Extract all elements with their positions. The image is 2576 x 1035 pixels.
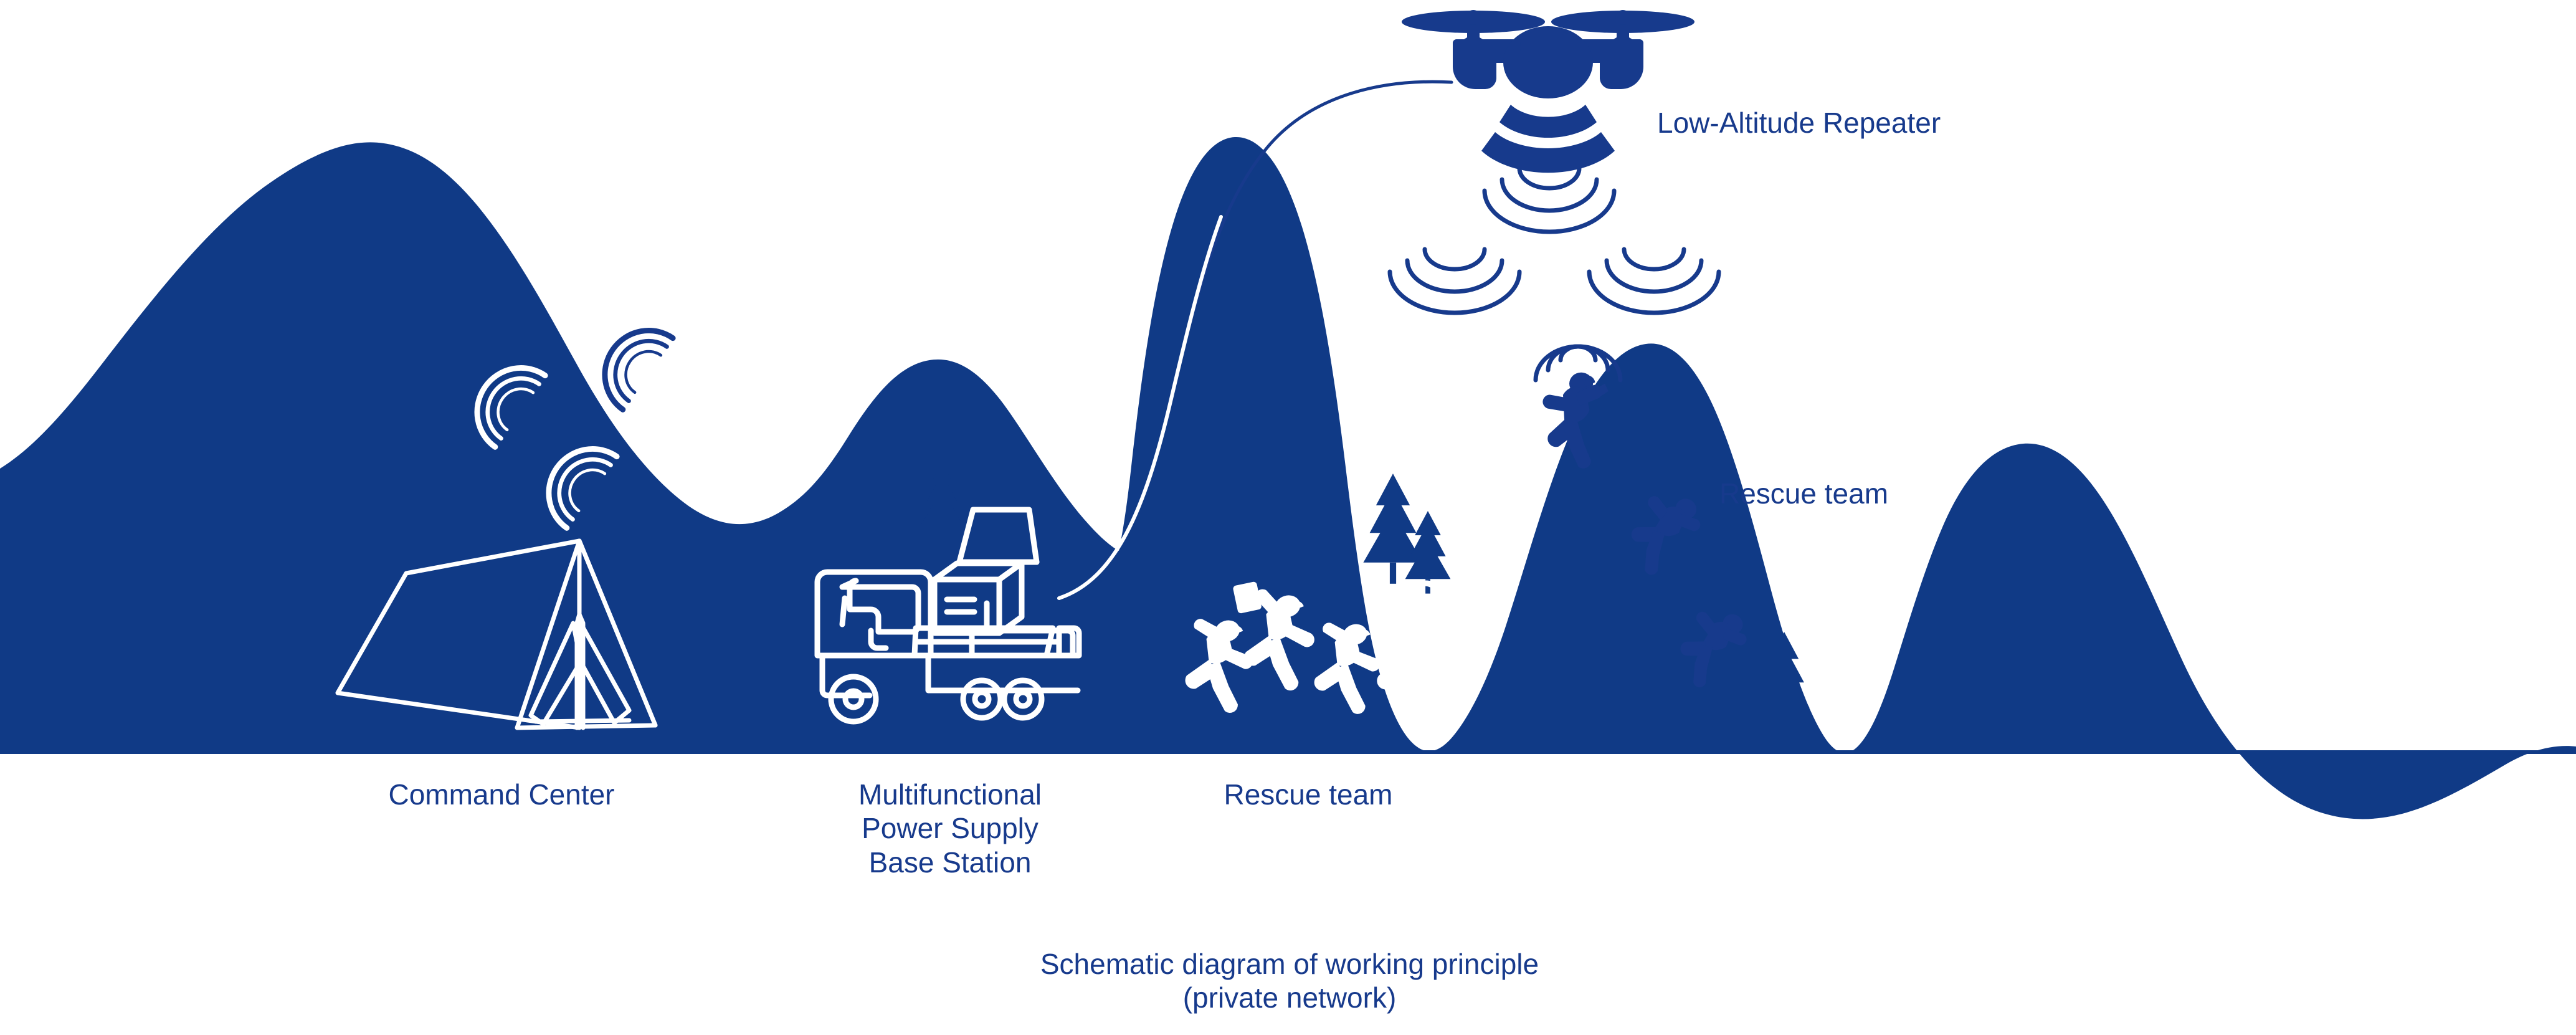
label-rescue-team-right: Rescue team [1719, 477, 1888, 510]
label-base-station-line2: Power Supply [829, 811, 1072, 845]
caption-line-2: (private network) [832, 981, 1747, 1014]
scene-illustration [0, 0, 2576, 1035]
caption-line-1: Schematic diagram of working principle [832, 947, 1747, 981]
label-base-station-line3: Base Station [829, 846, 1072, 879]
label-low-altitude-repeater: Low-Altitude Repeater [1657, 106, 1941, 140]
label-base-station: Multifunctional Power Supply Base Statio… [829, 778, 1072, 879]
label-base-station-line1: Multifunctional [829, 778, 1072, 811]
label-command-center: Command Center [380, 778, 623, 811]
diagram-canvas: Low-Altitude Repeater Rescue team Comman… [0, 0, 2576, 1035]
label-rescue-team-center: Rescue team [1190, 778, 1427, 811]
diagram-caption: Schematic diagram of working principle (… [832, 947, 1747, 1015]
